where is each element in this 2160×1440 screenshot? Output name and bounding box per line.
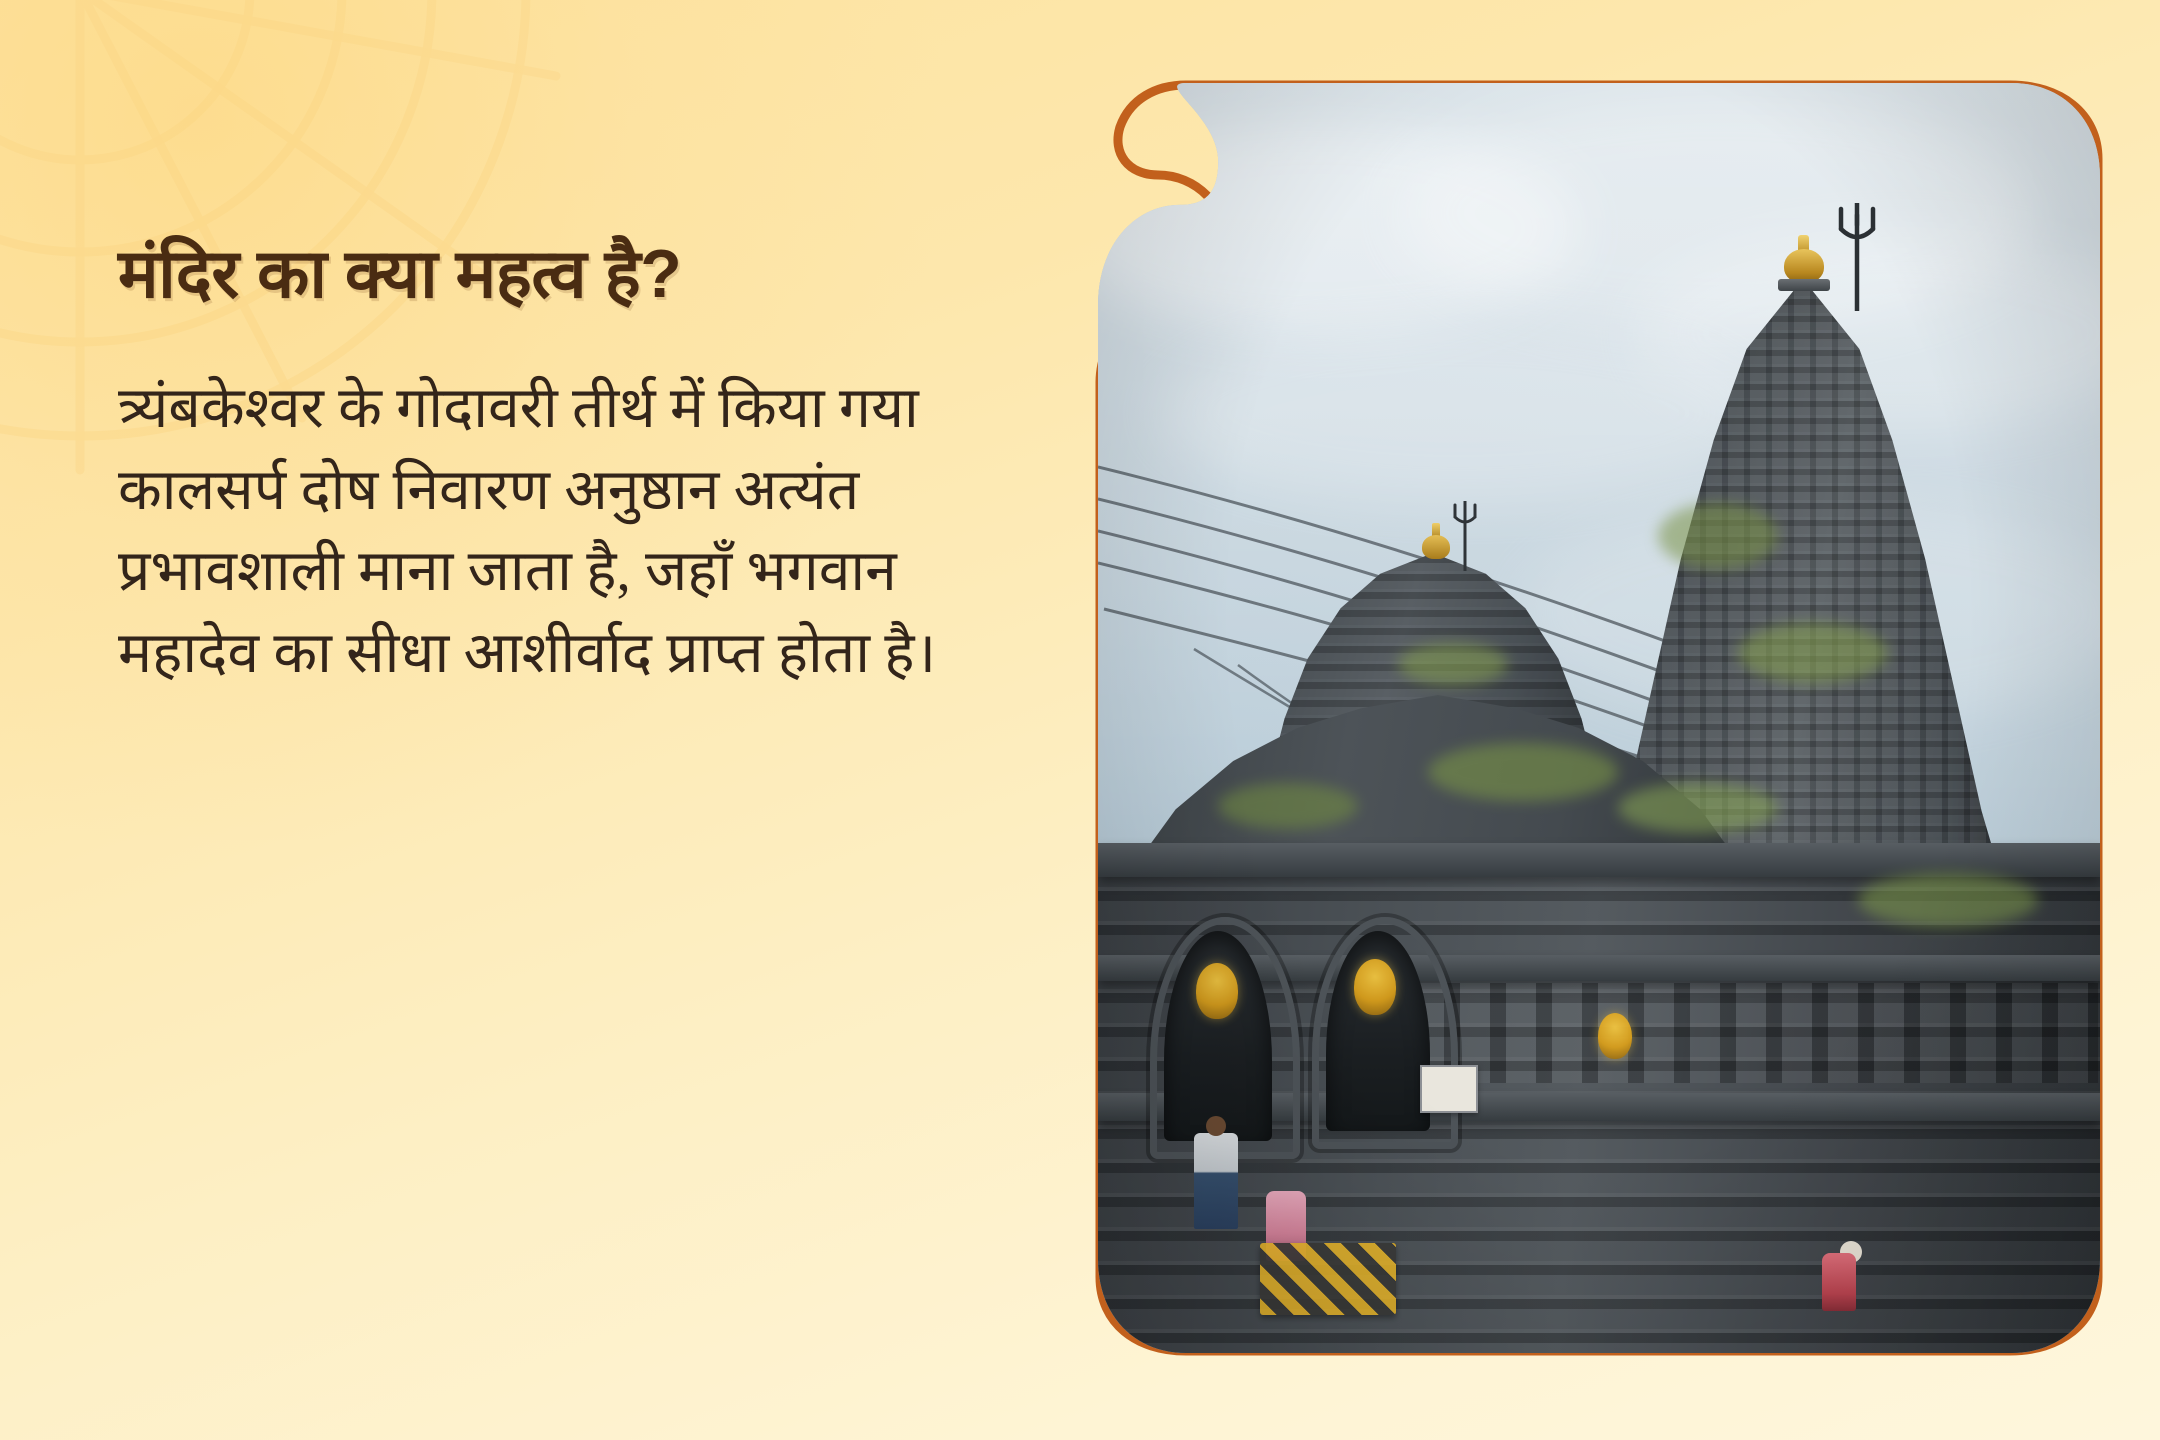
- trident-icon-main: [1834, 203, 1880, 311]
- moss-patch: [1618, 783, 1778, 833]
- garland-ornament: [1196, 963, 1238, 1019]
- moss-patch: [1218, 783, 1358, 829]
- poster-canvas: मंदिर का क्या महत्व है? त्र्यंबकेश्वर के…: [0, 0, 2160, 1440]
- text-column: मंदिर का क्या महत्व है? त्र्यंबकेश्वर के…: [118, 236, 1038, 694]
- cornice-band: [1098, 843, 2100, 877]
- page-title: मंदिर का क्या महत्व है?: [118, 236, 1038, 312]
- visitor-figure: [1194, 1133, 1238, 1229]
- photo-clip-host: [1098, 83, 2100, 1353]
- temple-photograph: [1098, 83, 2100, 1353]
- body-paragraph: त्र्यंबकेश्वर के गोदावरी तीर्थ में किया …: [118, 312, 1018, 694]
- trident-icon-secondary: [1450, 501, 1480, 571]
- caution-barricade: [1260, 1243, 1396, 1315]
- kalash-dome: [1422, 535, 1450, 559]
- moss-patch: [1738, 623, 1888, 683]
- notice-board: [1420, 1065, 1478, 1113]
- moss-patch: [1398, 643, 1508, 685]
- visitor-figure: [1822, 1253, 1856, 1311]
- garland-ornament: [1354, 959, 1396, 1015]
- garland-ornament: [1598, 1013, 1632, 1059]
- carved-niche-row: [1398, 983, 2098, 1083]
- kalash-base: [1778, 279, 1830, 291]
- kalash-dome: [1784, 249, 1824, 283]
- moss-patch: [1658, 503, 1778, 569]
- temple-photo-card: [1098, 83, 2100, 1353]
- moss-patch: [1858, 873, 2038, 927]
- kalash-finial-main: [1774, 233, 1834, 295]
- moss-patch: [1428, 743, 1618, 801]
